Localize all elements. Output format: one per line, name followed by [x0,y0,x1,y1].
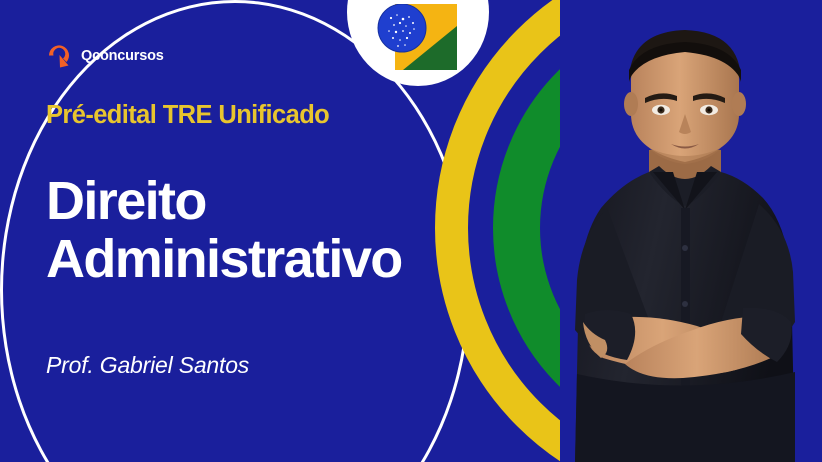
page-title: Direito Administrativo [46,172,402,289]
instructor-portrait [545,22,822,462]
title-line-2: Administrativo [46,230,402,288]
brand-wordmark: Qconcursos [81,48,164,64]
text-column: Qconcursos Pré-edital TRE Unificado Dire… [46,0,516,462]
kicker-text: Pré-edital TRE Unificado [46,101,329,130]
presenter-name: Prof. Gabriel Santos [46,352,249,379]
slide-canvas: Qconcursos Pré-edital TRE Unificado Dire… [0,0,822,462]
qconcursos-q-icon [46,42,72,70]
brand-logo[interactable]: Qconcursos [46,42,164,70]
title-line-1: Direito [46,171,206,231]
